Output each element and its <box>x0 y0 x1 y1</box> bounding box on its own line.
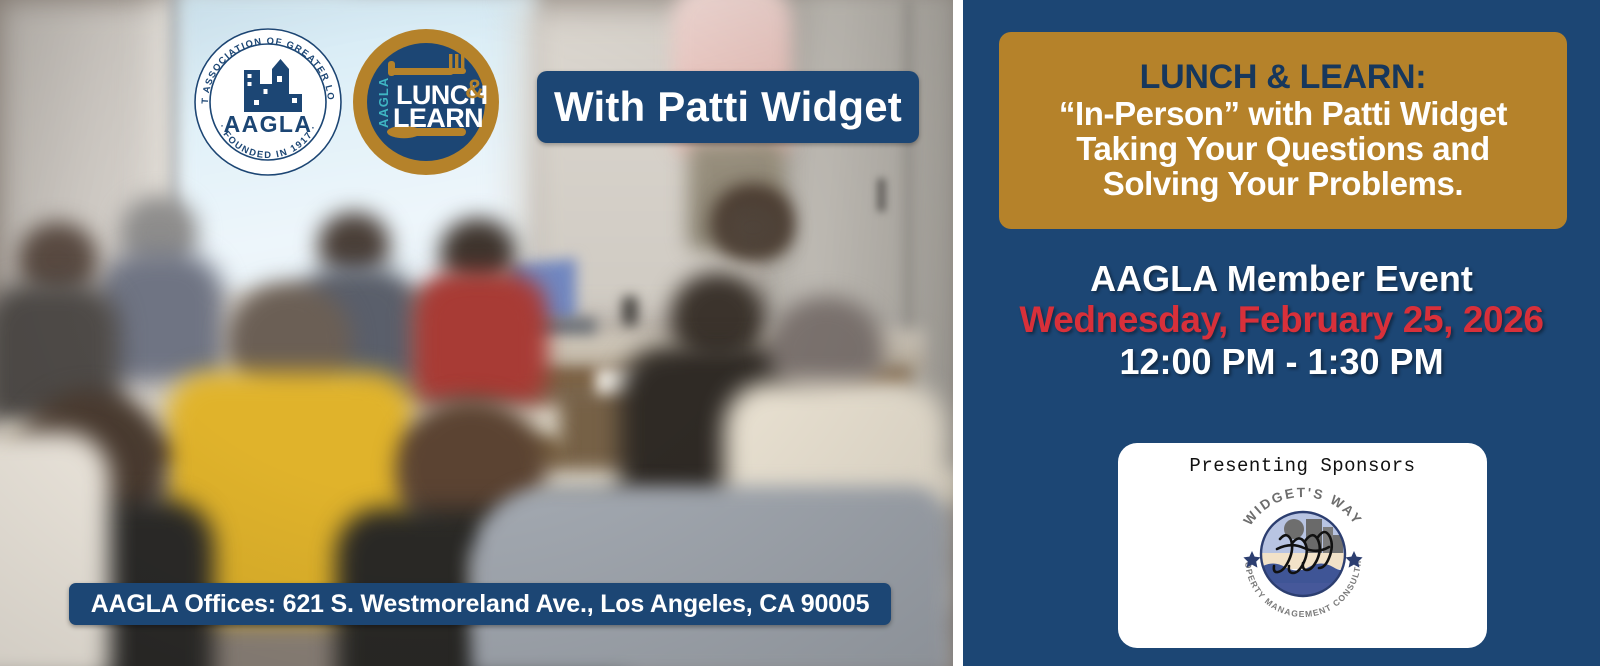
speaker-name-text: With Patti Widget <box>554 83 902 131</box>
speaker-name-banner: With Patti Widget <box>537 71 919 143</box>
event-date: Wednesday, February 25, 2026 <box>963 299 1600 341</box>
event-details: AAGLA Member Event Wednesday, February 2… <box>963 258 1600 382</box>
widgets-way-logo: WIDGET'S WAY PROPERTY MANAGEMENT CONSULT… <box>1228 479 1378 629</box>
svg-text:AAGLA: AAGLA <box>376 77 391 128</box>
event-headline-box: LUNCH & LEARN: “In-Person” with Patti Wi… <box>999 32 1567 229</box>
headline-line-3: Solving Your Problems. <box>1103 167 1463 202</box>
svg-text:LEARN: LEARN <box>393 103 483 133</box>
headline-line-1: “In-Person” with Patti Widget <box>1059 97 1507 132</box>
lunch-and-learn-badge-logo: AAGLA LUNCH LEARN & <box>352 28 500 176</box>
event-info-panel: LUNCH & LEARN: “In-Person” with Patti Wi… <box>963 0 1600 666</box>
presenting-sponsors-heading: Presenting Sponsors <box>1189 455 1415 477</box>
svg-text:&: & <box>465 74 485 104</box>
headline-title: LUNCH & LEARN: <box>1140 60 1427 96</box>
svg-text:AAGLA: AAGLA <box>224 111 313 137</box>
event-time: 12:00 PM - 1:30 PM <box>963 341 1600 382</box>
headline-line-2: Taking Your Questions and <box>1076 132 1490 167</box>
presenting-sponsors-card: Presenting Sponsors <box>1118 443 1487 648</box>
venue-address-text: AAGLA Offices: 621 S. Westmoreland Ave.,… <box>91 590 870 619</box>
classroom-photo-panel: APARTMENT ASSOCIATION OF GREATER LOS ANG… <box>0 0 953 666</box>
event-promo-banner: APARTMENT ASSOCIATION OF GREATER LOS ANG… <box>0 0 1600 666</box>
venue-address-bar: AAGLA Offices: 621 S. Westmoreland Ave.,… <box>69 583 891 625</box>
aagla-seal-logo: APARTMENT ASSOCIATION OF GREATER LOS ANG… <box>192 26 344 178</box>
event-audience: AAGLA Member Event <box>963 258 1600 299</box>
